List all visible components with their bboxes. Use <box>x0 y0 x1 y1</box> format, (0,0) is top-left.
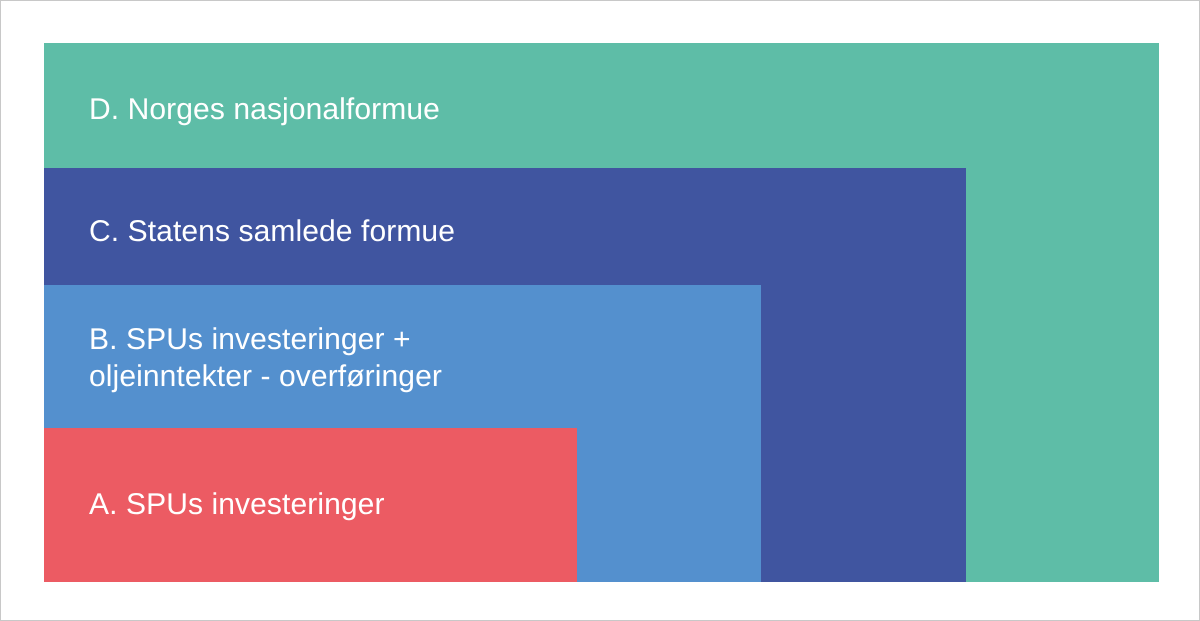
layer-a-spus-investeringer[interactable]: A. SPUs investeringer <box>44 428 577 582</box>
layer-b-label: B. SPUs investeringer + oljeinntekter - … <box>89 321 442 395</box>
layer-a-label: A. SPUs investeringer <box>89 486 385 523</box>
diagram-canvas: D. Norges nasjonalformue C. Statens saml… <box>0 0 1200 621</box>
layer-d-label: D. Norges nasjonalformue <box>89 91 440 128</box>
layer-c-label: C. Statens samlede formue <box>89 213 455 250</box>
